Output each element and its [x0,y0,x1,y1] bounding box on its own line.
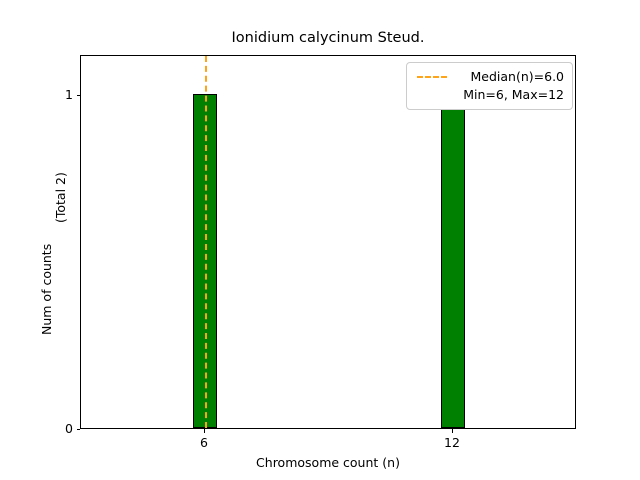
y-axis-label-total: (Total 2) [54,172,67,223]
y-tick-mark [77,429,81,430]
legend-blank-icon [415,88,449,102]
median-line-icon [205,56,207,428]
y-axis-label: Num of counts [40,244,53,335]
legend-entry: Min=6, Max=12 [415,86,564,104]
x-axis-label: Chromosome count (n) [80,455,576,470]
chart-legend: Median(n)=6.0Min=6, Max=12 [406,62,573,110]
y-tick-mark [77,95,81,96]
chart-title: Ionidium calycinum Steud. [80,29,576,47]
x-tick-mark [452,429,453,433]
x-tick-mark [204,429,205,433]
y-tick-label: 0 [52,423,73,436]
x-tick-label: 6 [174,436,234,450]
legend-label: Min=6, Max=12 [449,88,564,102]
legend-entry: Median(n)=6.0 [415,68,564,86]
bar [441,94,464,428]
x-tick-label: 12 [422,436,482,450]
legend-dashed-line-icon [415,70,449,84]
y-tick-label: 1 [52,89,73,102]
legend-label: Median(n)=6.0 [449,70,564,84]
figure-canvas: Ionidium calycinum Steud. 01 612 Chromos… [0,0,640,480]
plot-area [80,55,576,429]
